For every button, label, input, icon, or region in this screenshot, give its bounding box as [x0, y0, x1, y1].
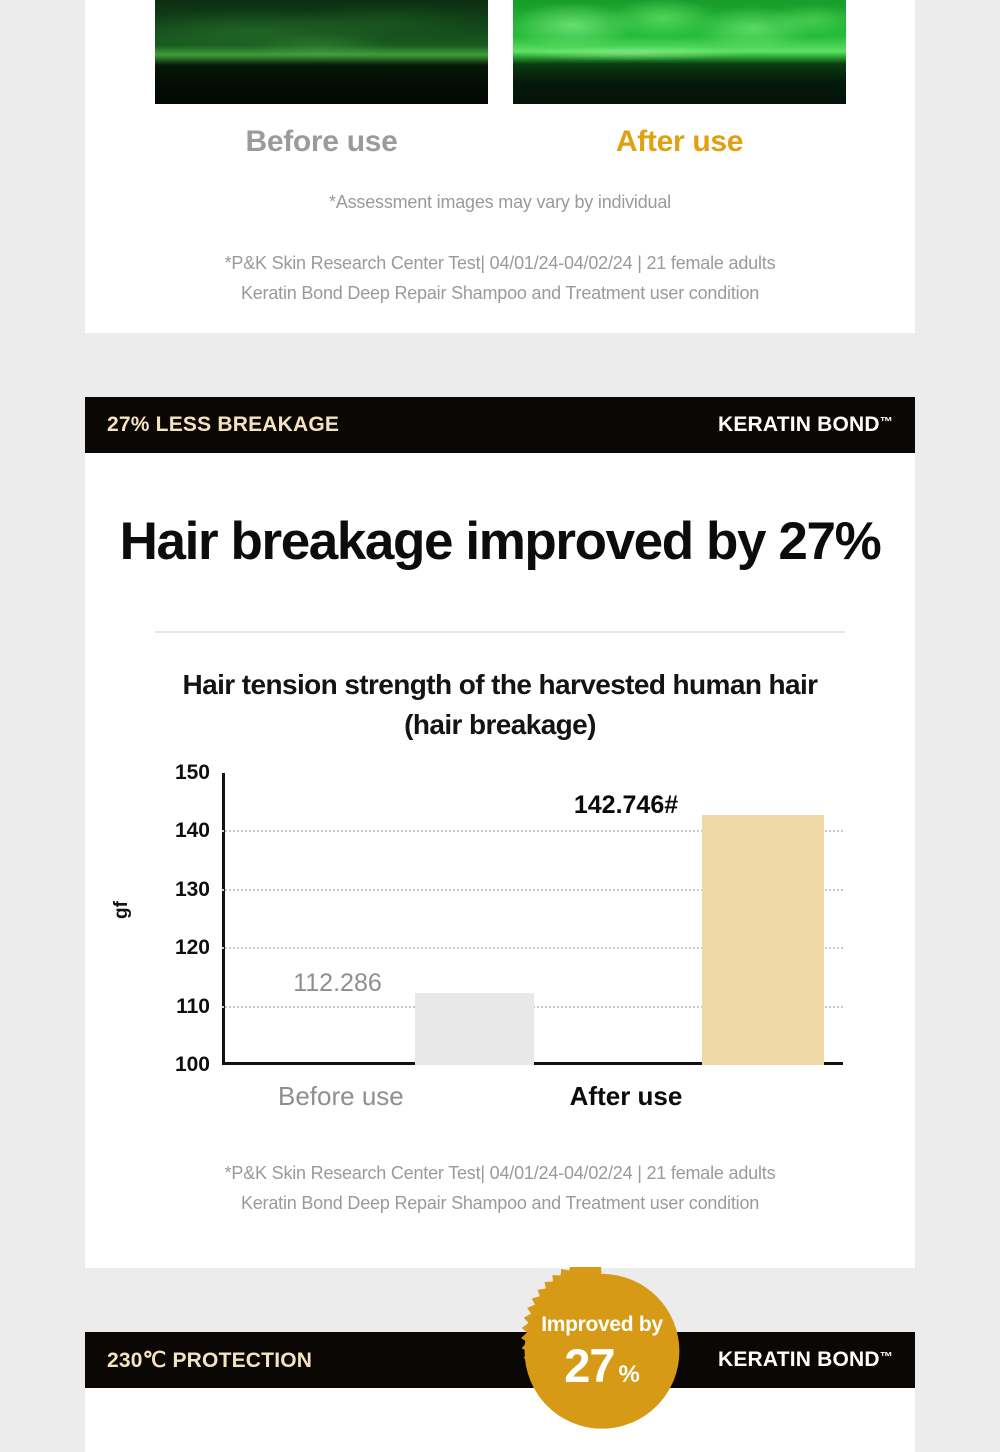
bar-after-use: [702, 815, 824, 1065]
bar-value-before: 112.286: [278, 969, 397, 998]
brand-name: KERATIN BOND: [718, 1348, 880, 1371]
chart-footnote: *P&K Skin Research Center Test| 04/01/24…: [85, 1158, 915, 1218]
top-footnote-line-2: Keratin Bond Deep Repair Shampoo and Tre…: [85, 278, 915, 308]
banner-heat-protection: 230℃ PROTECTION KERATIN BOND™: [85, 1332, 915, 1388]
section-divider: [155, 631, 845, 633]
chart-title-line-1: Hair tension strength of the harvested h…: [85, 665, 915, 705]
bar-before-use: [415, 993, 534, 1065]
y-axis-label: gf: [111, 901, 133, 919]
y-tick-130: 130: [175, 878, 210, 902]
y-tick-150: 150: [175, 761, 210, 785]
x-tick-before-use: Before use: [278, 1081, 397, 1112]
after-microscopy-visual: [513, 0, 846, 104]
trademark-icon: ™: [880, 414, 893, 429]
bar-chart: gf 150 140 130 120 110 100: [85, 763, 915, 1113]
chart-footnote-line-2: Keratin Bond Deep Repair Shampoo and Tre…: [85, 1188, 915, 1218]
y-tick-110: 110: [176, 995, 210, 1019]
top-footnote-line-1: *P&K Skin Research Center Test| 04/01/24…: [85, 248, 915, 278]
microscopy-image-row: [85, 0, 915, 104]
breakage-chart-section: Hair breakage improved by 27% Hair tensi…: [85, 453, 915, 1268]
after-use-caption: After use: [513, 125, 846, 159]
y-tick-100: 100: [175, 1053, 210, 1077]
banner-breakage-brand: KERATIN BOND™: [718, 413, 893, 437]
y-tick-120: 120: [175, 936, 210, 960]
top-footnote: *P&K Skin Research Center Test| 04/01/24…: [85, 248, 915, 308]
chart-footnote-line-1: *P&K Skin Research Center Test| 04/01/24…: [85, 1158, 915, 1188]
assessment-disclaimer: *Assessment images may vary by individua…: [85, 192, 915, 213]
before-microscopy-visual: [155, 0, 488, 104]
improvement-badge: Improved by 27 %: [516, 1267, 688, 1439]
page-title: Hair breakage improved by 27%: [85, 511, 915, 572]
plot-area: 150 140 130 120 110 100: [222, 773, 843, 1065]
chart-title: Hair tension strength of the harvested h…: [85, 665, 915, 745]
heat-protection-section: [85, 1388, 915, 1452]
before-after-image-section: Before use After use *Assessment images …: [85, 0, 915, 333]
banner-less-breakage: 27% LESS BREAKAGE KERATIN BOND™: [85, 397, 915, 453]
after-microscopy-image: [513, 0, 846, 104]
starburst-icon: [516, 1267, 688, 1439]
bar-value-after: 142.746#: [565, 791, 687, 820]
chart-title-line-2: (hair breakage): [85, 705, 915, 745]
before-microscopy-image: [155, 0, 488, 104]
banner-heat-brand: KERATIN BOND™: [718, 1348, 893, 1372]
product-detail-page: Before use After use *Assessment images …: [0, 0, 1000, 1452]
brand-name: KERATIN BOND: [718, 413, 880, 436]
y-tick-140: 140: [175, 819, 210, 843]
x-tick-after-use: After use: [565, 1081, 687, 1112]
image-caption-row: Before use After use: [85, 125, 915, 167]
before-use-caption: Before use: [155, 125, 488, 159]
banner-breakage-label: 27% LESS BREAKAGE: [107, 413, 339, 437]
trademark-icon: ™: [880, 1349, 893, 1364]
banner-heat-label: 230℃ PROTECTION: [107, 1348, 312, 1373]
